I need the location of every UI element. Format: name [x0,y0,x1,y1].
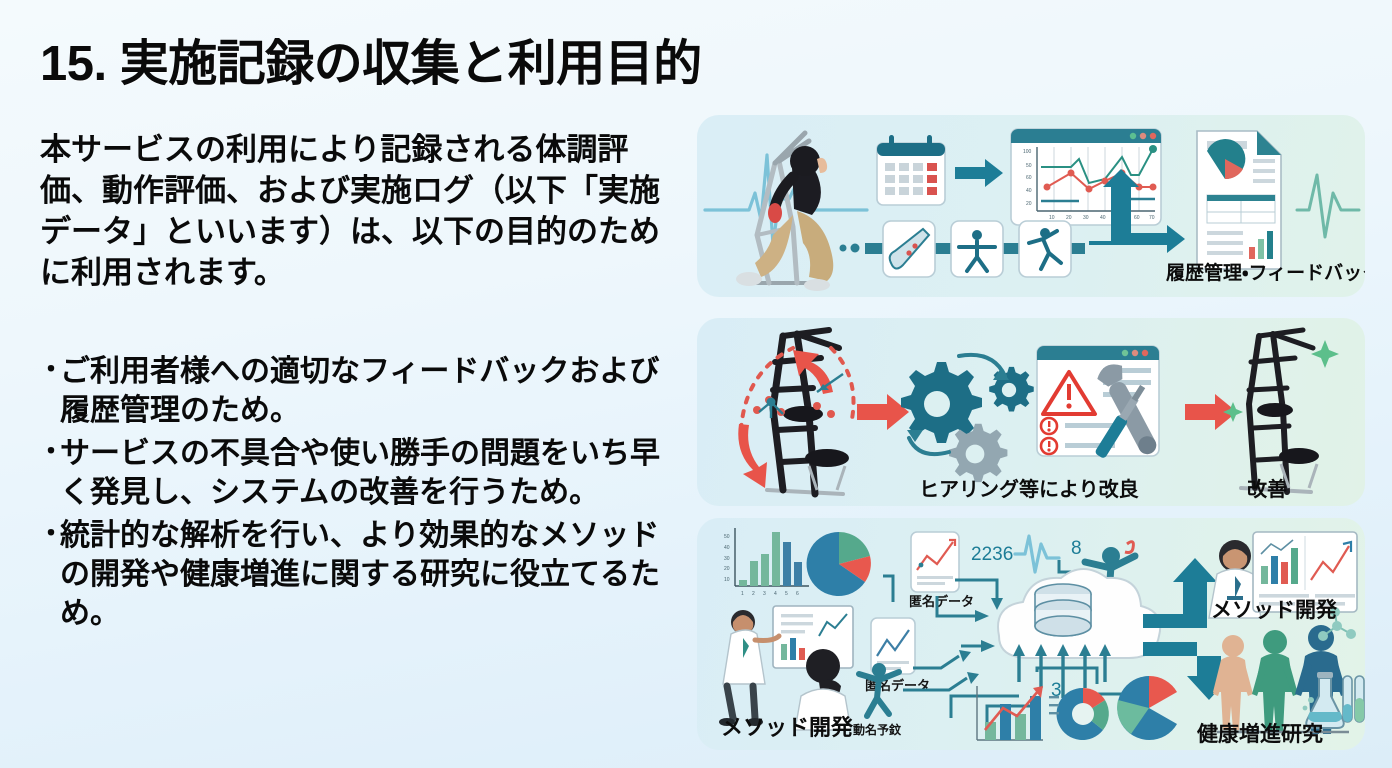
svg-text:60: 60 [1026,175,1032,181]
page-title: 15. 実施記録の収集と利用目的 [40,24,702,95]
svg-text:50: 50 [724,534,730,540]
number-label-2236: 2236 [971,544,1013,565]
bullet-text: ご利用者様への適切なフィードバックおよび履歴管理のため。 [60,352,688,430]
pie-chart-bottom [1117,676,1177,740]
svg-text:20: 20 [724,566,730,572]
svg-text:40: 40 [1100,215,1106,221]
svg-text:10: 10 [724,577,730,583]
bullet-marker-icon: ・ [38,434,60,512]
bar-chart: 5040 3020 10 12 34 56 [724,528,809,597]
svg-text:20: 20 [1066,215,1072,221]
svg-text:10: 10 [1049,215,1055,221]
training-machine-icon [738,330,853,494]
bullet-list: ・ ご利用者様への適切なフィードバックおよび履歴管理のため。 ・ サービスの不具… [38,352,688,637]
training-machine-person-icon [736,133,833,291]
arrow-right-icon [955,159,1003,187]
svg-text:60: 60 [1134,215,1140,221]
pie-chart-top [807,532,871,596]
arrow-to-method-icon [1143,558,1217,628]
cloud-database-icon [998,569,1160,658]
standing-person-icon [951,221,1003,277]
svg-text:6: 6 [796,591,799,597]
svg-text:5: 5 [785,591,788,597]
improved-machine-icon [1223,330,1339,492]
svg-text:100: 100 [1023,149,1032,155]
svg-text:40: 40 [1026,188,1032,194]
panel3-caption-right-top: メソッド開発 [1211,594,1337,624]
improvement-panel: ヒアリング等により改良 改善 [697,318,1365,506]
svg-text:1: 1 [741,591,744,597]
gears-icon [901,355,1034,482]
svg-text:30: 30 [724,556,730,562]
slide-root: 15. 実施記録の収集と利用目的 本サービスの利用により記録される体調評価、動作… [0,0,1392,768]
panel2-caption-center: ヒアリング等により改良 [919,473,1139,502]
bullet-marker-icon: ・ [38,516,60,633]
svg-text:20: 20 [1026,201,1032,207]
svg-text:4: 4 [774,591,777,597]
svg-text:50: 50 [1026,163,1032,169]
svg-text:40: 40 [724,545,730,551]
thermometer-icon [883,221,935,277]
report-document-icon [1197,131,1281,269]
anon-data-document-1 [911,532,959,592]
panel3-caption-left: メソッド開発 [721,710,853,742]
database-icon [1035,584,1091,636]
list-item: ・ サービスの不具合や使い勝手の問題をいち早く発見し、システムの改善を行うため。 [38,434,688,512]
motion-prediction-label: 動名予鈫 [853,722,902,737]
bullet-text: サービスの不具合や使い勝手の問題をいち早く発見し、システムの改善を行うため。 [60,434,688,512]
svg-text:3: 3 [763,591,766,597]
calendar-icon [877,135,945,205]
exercising-person-icon [1019,221,1071,277]
line-chart-window: 10050 6040 20 1020 3040 5060 70 [1011,129,1161,225]
svg-text:2: 2 [752,591,755,597]
number-label-8: 8 [1071,538,1082,559]
svg-text:70: 70 [1149,215,1155,221]
list-item: ・ 統計的な解析を行い、より効果的なメソッドの開発や健康増進に関する研究に役立て… [38,516,688,633]
panel3-caption-right-bottom: 健康増進研究 [1197,718,1323,748]
bullet-marker-icon: ・ [38,352,60,430]
lead-paragraph: 本サービスの利用により記録される体調評価、動作評価、および実施ログ（以下「実施デ… [40,130,680,294]
panel2-caption-right: 改善 [1247,473,1287,502]
svg-text:30: 30 [1083,215,1089,221]
measurement-pipeline [840,221,1086,277]
history-feedback-panel: 10050 6040 20 1020 3040 5060 70 [697,115,1365,297]
list-item: ・ ご利用者様への適切なフィードバックおよび履歴管理のため。 [38,352,688,430]
bullet-text: 統計的な解析を行い、より効果的なメソッドの開発や健康増進に関する研究に役立てるた… [60,516,688,633]
research-panel: 5040 3020 10 12 34 56 [697,518,1365,750]
panel1-caption: 履歴管理・フィードバック [1166,258,1365,285]
anon-data-label-1: 匿名データ [909,594,974,609]
